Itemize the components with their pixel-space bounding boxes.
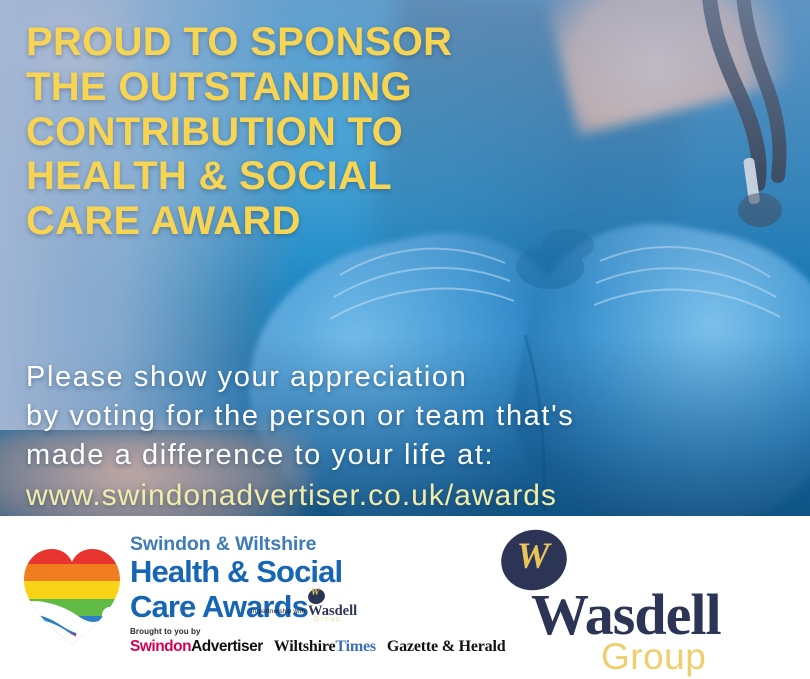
headline: PROUD TO SPONSOR THE OUTSTANDING CONTRIB…: [26, 20, 566, 244]
wasdell-group-word: Group: [601, 638, 706, 675]
call-to-action-text: Please show your appreciation by voting …: [26, 358, 746, 516]
publisher-swindon-advertiser: SwindonAdvertiser: [130, 638, 263, 656]
brought-to-you-by-label: Brought to you by: [130, 627, 450, 636]
headline-line-1: PROUD TO SPONSOR: [26, 20, 566, 65]
body-line-2: by voting for the person or team that's: [26, 397, 746, 436]
rainbow-heart-icon: [18, 544, 126, 649]
publishers-block: Brought to you by SwindonAdvertiser Wilt…: [130, 627, 450, 656]
headline-line-4: HEALTH & SOCIAL: [26, 154, 566, 199]
publisher-times-word: Times: [335, 638, 376, 655]
partnership-brand-sub: Group: [314, 616, 341, 623]
partnership-lockup: W In partnership with Wasdell Group: [251, 591, 381, 623]
awards-title-line-1: Health & Social: [130, 556, 440, 588]
headline-line-3: CONTRIBUTION TO: [26, 110, 566, 155]
publisher-swindon-word: Swindon: [130, 638, 191, 655]
body-line-1: Please show your appreciation: [26, 358, 746, 397]
publisher-advertiser-word: Advertiser: [191, 638, 263, 655]
wasdell-monogram-letter: W: [500, 538, 566, 575]
publisher-wiltshire-word: Wiltshire: [274, 638, 336, 655]
wasdell-monogram-small-letter: W: [307, 587, 324, 598]
voting-url[interactable]: www.swindonadvertiser.co.uk/awards: [26, 475, 746, 516]
body-line-3: made a difference to your life at:: [26, 436, 746, 475]
headline-line-5: CARE AWARD: [26, 199, 566, 244]
publisher-gazette-herald: Gazette & Herald: [387, 638, 506, 656]
logo-bar: Swindon & Wiltshire Health & Social Care…: [0, 516, 810, 679]
health-social-care-awards-logo: Swindon & Wiltshire Health & Social Care…: [18, 534, 438, 664]
publisher-wiltshire-times: WiltshireTimes: [274, 638, 376, 656]
wasdell-group-logo: W Wasdell Group: [489, 524, 789, 674]
publisher-logo-row: SwindonAdvertiser WiltshireTimes Gazette…: [130, 638, 450, 656]
sponsorship-poster: PROUD TO SPONSOR THE OUTSTANDING CONTRIB…: [0, 0, 810, 679]
headline-line-2: THE OUTSTANDING: [26, 65, 566, 110]
awards-region-label: Swindon & Wiltshire: [130, 534, 440, 554]
partnership-prefix: In partnership with: [251, 608, 305, 615]
